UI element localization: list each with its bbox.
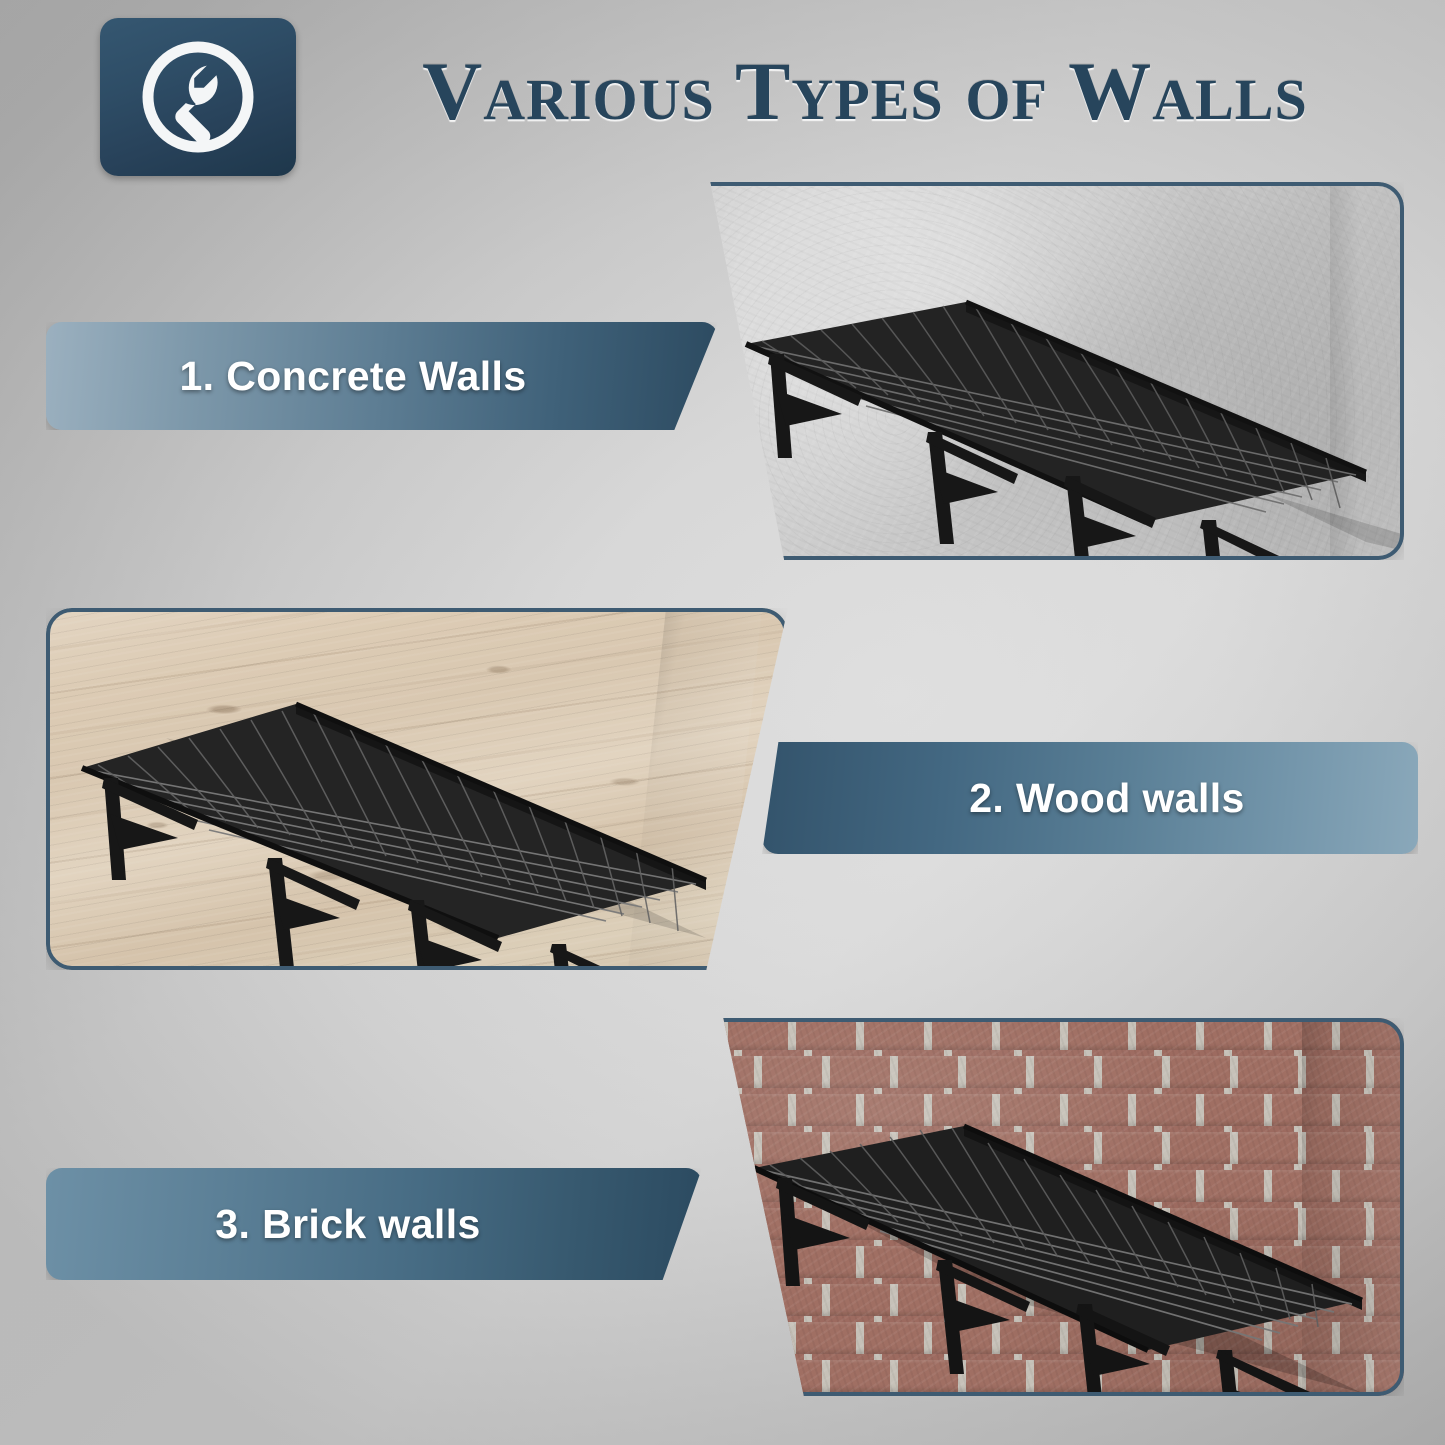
wood-wall-shelf-photo — [46, 608, 788, 970]
label-banner-wood[interactable]: 2. Wood walls — [762, 742, 1418, 854]
label-banner-brick[interactable]: 3. Brick walls — [46, 1168, 702, 1280]
banner-label-brick: 3. Brick walls — [46, 1201, 702, 1248]
wall-shelf-product-brick — [672, 1018, 1404, 1396]
brick-wall-shelf-photo — [672, 1018, 1404, 1396]
banner-label-wood: 2. Wood walls — [762, 775, 1418, 822]
wall-shelf-product-concrete — [666, 182, 1404, 560]
header: Various Types of Walls — [0, 0, 1445, 190]
infographic-page: Various Types of Walls — [0, 0, 1445, 1445]
label-banner-concrete[interactable]: 1. Concrete Walls — [46, 322, 718, 430]
wrench-in-circle-icon — [100, 18, 296, 176]
banner-label-concrete: 1. Concrete Walls — [46, 353, 718, 400]
page-title: Various Types of Walls — [330, 36, 1400, 146]
concrete-wall-shelf-photo — [666, 182, 1404, 560]
wall-shelf-product-wood — [46, 608, 788, 970]
